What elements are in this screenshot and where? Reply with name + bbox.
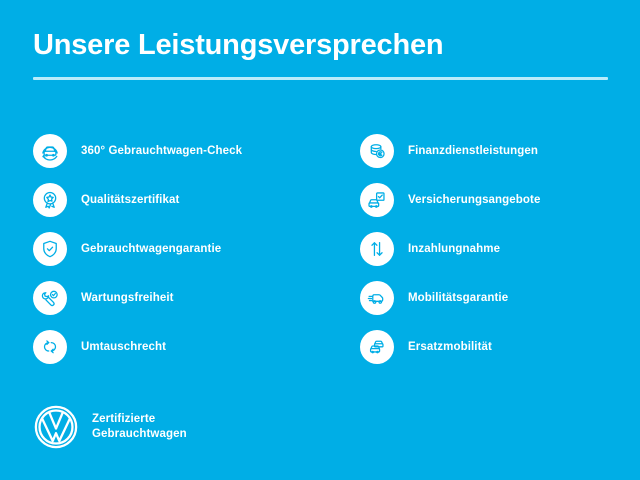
brand-text: Zertifizierte Gebrauchtwagen bbox=[92, 412, 187, 442]
promo-poster: Unsere Leistungsversprechen bbox=[0, 0, 640, 480]
benefits-grid: 360° Gebrauchtwagen-Check Qualitätszerti… bbox=[0, 126, 640, 371]
benefit-label: Versicherungsangebote bbox=[408, 194, 540, 206]
benefit-label: 360° Gebrauchtwagen-Check bbox=[81, 145, 242, 157]
benefit-item-inzahlungnahme: Inzahlungnahme bbox=[360, 224, 640, 273]
brand-text-line2: Gebrauchtwagen bbox=[92, 427, 187, 442]
arrows-up-down-icon bbox=[360, 232, 394, 266]
benefits-column-right: Finanzdienstleistungen Versicherungsange… bbox=[320, 126, 640, 371]
benefit-label: Inzahlungnahme bbox=[408, 243, 500, 255]
benefit-label: Mobilitätsgarantie bbox=[408, 292, 508, 304]
page-title: Unsere Leistungsversprechen bbox=[33, 28, 608, 62]
benefit-item-gebrauchtwagengarantie: Gebrauchtwagengarantie bbox=[33, 224, 320, 273]
benefit-label: Ersatzmobilität bbox=[408, 341, 492, 353]
volkswagen-logo-icon bbox=[33, 404, 79, 450]
brand-text-line1: Zertifizierte bbox=[92, 412, 187, 427]
brand-lockup: Zertifizierte Gebrauchtwagen bbox=[33, 404, 187, 450]
benefit-item-versicherungsangebote: Versicherungsangebote bbox=[360, 175, 640, 224]
benefit-item-mobilitaetsgarantie: Mobilitätsgarantie bbox=[360, 273, 640, 322]
wrench-check-icon bbox=[33, 281, 67, 315]
benefit-item-gebrauchtwagen-check: 360° Gebrauchtwagen-Check bbox=[33, 126, 320, 175]
benefit-item-finanzdienstleistungen: Finanzdienstleistungen bbox=[360, 126, 640, 175]
benefit-label: Qualitätszertifikat bbox=[81, 194, 179, 206]
title-divider bbox=[33, 77, 608, 80]
benefit-label: Umtauschrecht bbox=[81, 341, 166, 353]
van-motion-icon bbox=[360, 281, 394, 315]
exchange-arrows-icon bbox=[33, 330, 67, 364]
car-360-check-icon bbox=[33, 134, 67, 168]
benefit-item-ersatzmobilitaet: Ersatzmobilität bbox=[360, 322, 640, 371]
benefit-label: Finanzdienstleistungen bbox=[408, 145, 538, 157]
benefit-label: Gebrauchtwagengarantie bbox=[81, 243, 221, 255]
two-cars-icon bbox=[360, 330, 394, 364]
quality-seal-icon bbox=[33, 183, 67, 217]
coins-euro-icon bbox=[360, 134, 394, 168]
benefit-item-wartungsfreiheit: Wartungsfreiheit bbox=[33, 273, 320, 322]
benefits-column-left: 360° Gebrauchtwagen-Check Qualitätszerti… bbox=[0, 126, 320, 371]
benefit-item-qualitaetszertifikat: Qualitätszertifikat bbox=[33, 175, 320, 224]
shield-check-icon bbox=[33, 232, 67, 266]
header: Unsere Leistungsversprechen bbox=[33, 28, 608, 80]
benefit-item-umtauschrecht: Umtauschrecht bbox=[33, 322, 320, 371]
benefit-label: Wartungsfreiheit bbox=[81, 292, 174, 304]
car-insurance-document-icon bbox=[360, 183, 394, 217]
